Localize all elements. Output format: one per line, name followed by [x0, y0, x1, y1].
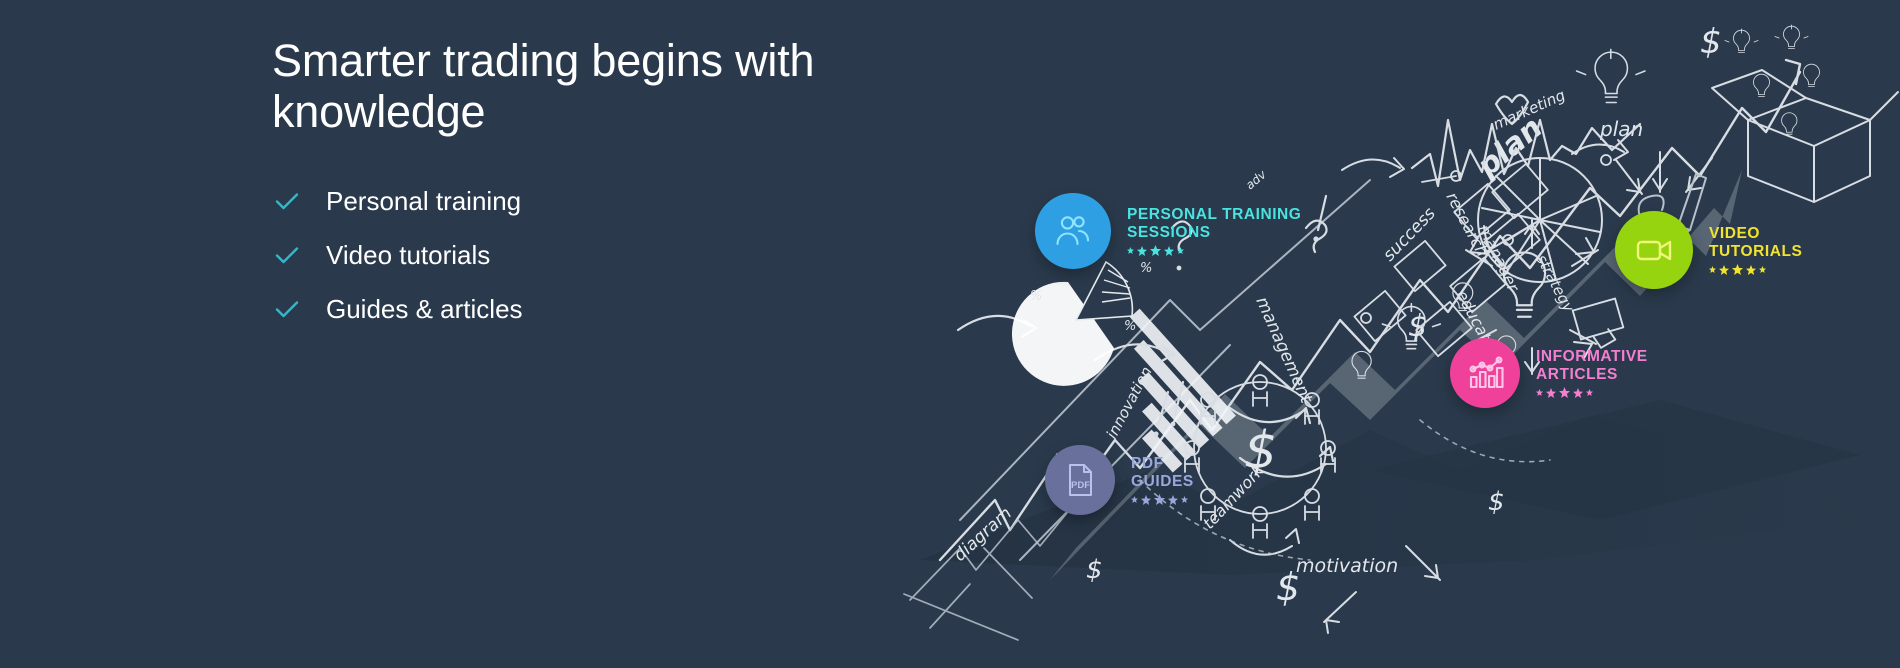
- svg-text:PDF: PDF: [1071, 480, 1090, 491]
- svg-text:strategy: strategy: [1532, 251, 1578, 316]
- pdf-document-icon: PDF: [1045, 445, 1115, 515]
- list-item: Guides & articles: [272, 282, 952, 336]
- badge-line-2: GUIDES: [1131, 473, 1194, 491]
- badge-personal-training[interactable]: PERSONAL TRAINING SESSIONS: [1035, 193, 1301, 269]
- list-item-label: Personal training: [326, 188, 521, 214]
- svg-text:success: success: [1379, 204, 1440, 266]
- list-item: Video tutorials: [272, 228, 952, 282]
- svg-text:management: management: [1251, 294, 1316, 407]
- svg-text:%: %: [1030, 289, 1042, 304]
- badge-text: VIDEO TUTORIALS: [1709, 225, 1802, 276]
- svg-text:$: $: [1086, 555, 1103, 585]
- badge-line-2: TUTORIALS: [1709, 243, 1802, 261]
- svg-text:%: %: [1124, 319, 1136, 334]
- badge-line-1: INFORMATIVE: [1536, 348, 1648, 366]
- star-rating: [1709, 264, 1802, 275]
- badge-text: PDF GUIDES: [1131, 455, 1194, 506]
- svg-text:adv: adv: [1243, 167, 1270, 192]
- svg-text:$: $: [1700, 22, 1722, 62]
- svg-text:$: $: [1276, 565, 1300, 609]
- hero-copy: Smarter trading begins with knowledge Pe…: [272, 36, 952, 336]
- badge-text: PERSONAL TRAINING SESSIONS: [1127, 206, 1301, 257]
- star-rating: [1127, 245, 1301, 256]
- video-camera-icon: [1615, 211, 1693, 289]
- growth-arrow-doodle-illustration: .dw { stroke:#d8dde4; fill:none; stroke-…: [900, 0, 1900, 668]
- list-item-label: Video tutorials: [326, 242, 490, 268]
- check-icon: [272, 186, 302, 216]
- star-rating: [1536, 387, 1648, 398]
- badge-line-1: PERSONAL TRAINING: [1127, 206, 1301, 224]
- hero-banner: Smarter trading begins with knowledge Pe…: [0, 0, 1900, 668]
- badge-line-2: ARTICLES: [1536, 366, 1648, 384]
- check-icon: [272, 240, 302, 270]
- svg-text:$: $: [1244, 421, 1277, 481]
- page-title: Smarter trading begins with knowledge: [272, 36, 912, 138]
- svg-text:motivation: motivation: [1296, 555, 1398, 577]
- svg-text:plan: plan: [1599, 117, 1643, 141]
- badge-line-2: SESSIONS: [1127, 224, 1301, 242]
- badge-video-tutorials[interactable]: VIDEO TUTORIALS: [1615, 211, 1802, 289]
- list-item-label: Guides & articles: [326, 296, 523, 322]
- people-icon: [1035, 193, 1111, 269]
- star-rating: [1131, 494, 1194, 505]
- check-icon: [272, 294, 302, 324]
- badge-line-1: VIDEO: [1709, 225, 1802, 243]
- bar-chart-icon: [1450, 338, 1520, 408]
- badge-text: INFORMATIVE ARTICLES: [1536, 348, 1648, 399]
- list-item: Personal training: [272, 174, 952, 228]
- feature-list: Personal training Video tutorials Guides…: [272, 174, 952, 336]
- badge-pdf-guides[interactable]: PDF PDF GUIDES: [1045, 445, 1194, 515]
- svg-text:$: $: [1488, 487, 1505, 517]
- badge-line-1: PDF: [1131, 455, 1194, 473]
- badge-informative-articles[interactable]: INFORMATIVE ARTICLES: [1450, 338, 1648, 408]
